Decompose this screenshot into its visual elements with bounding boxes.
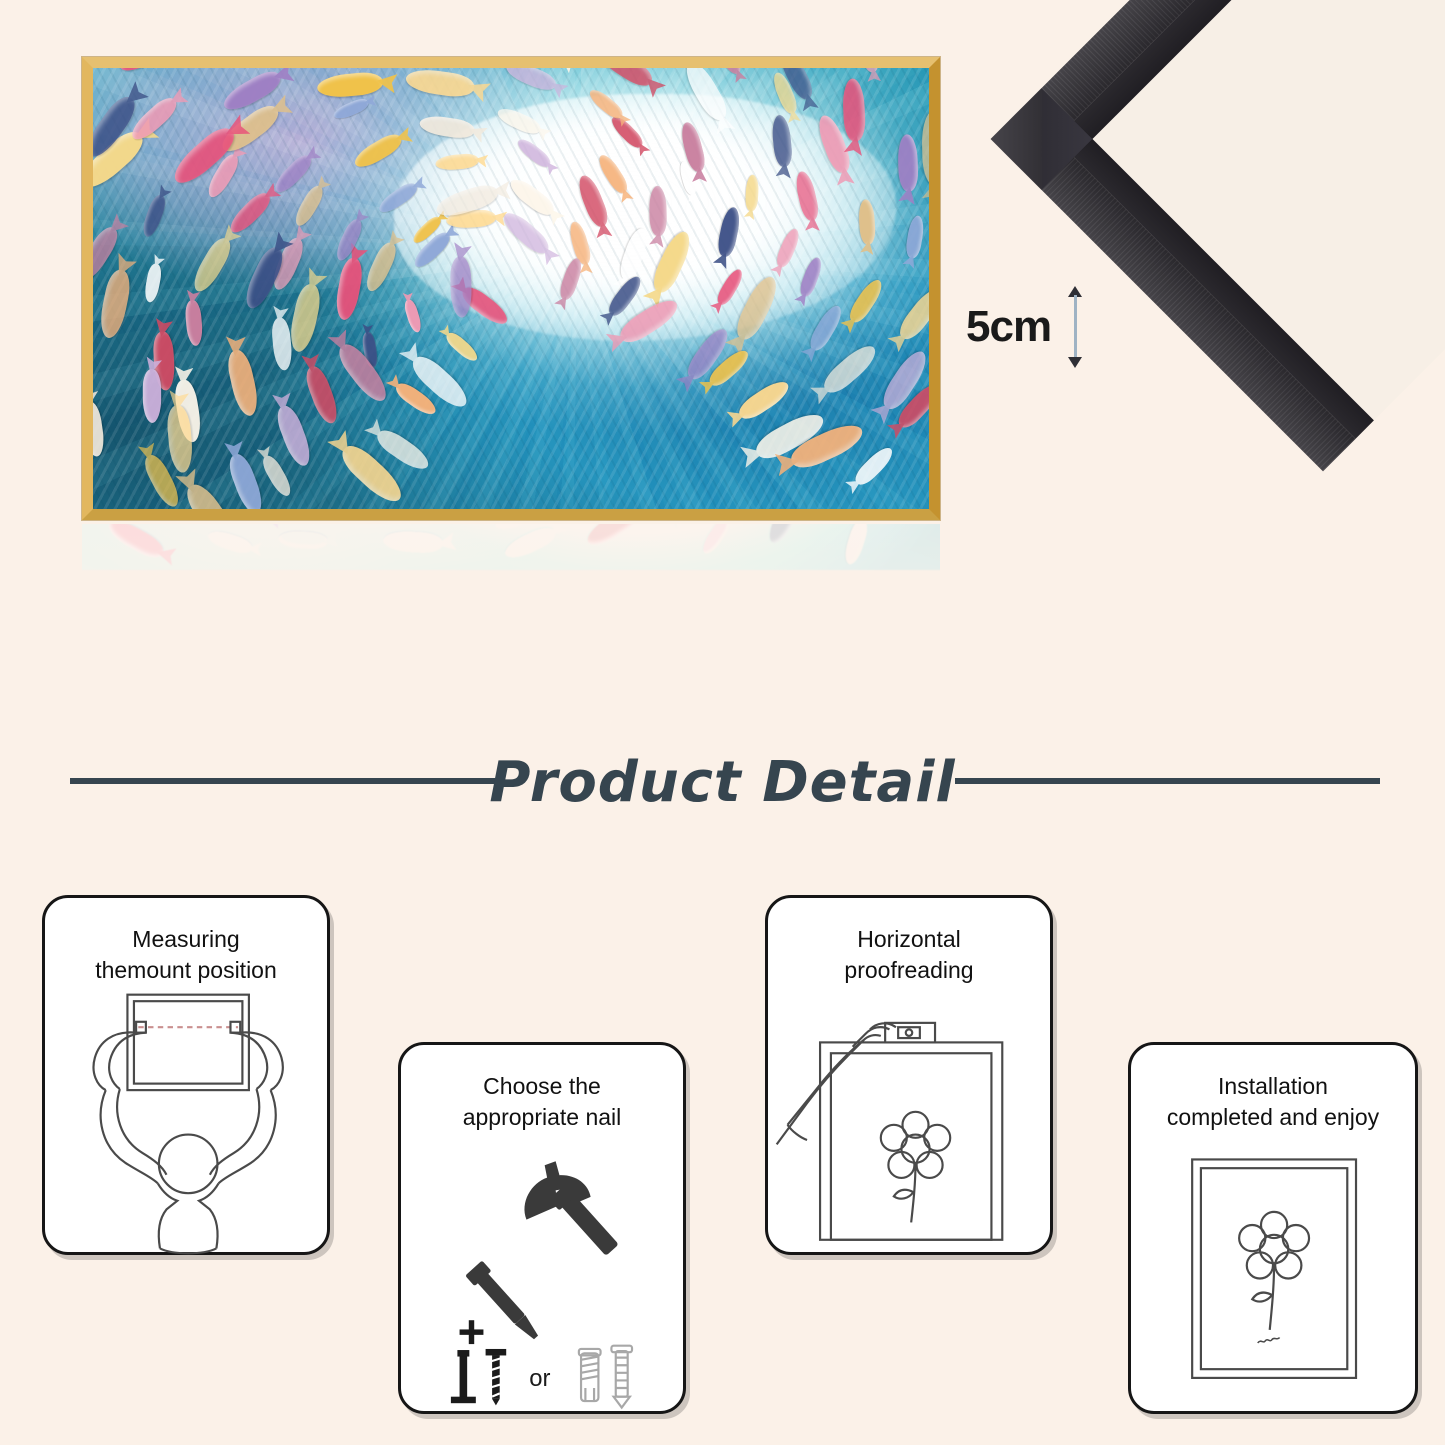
divider-line-left	[70, 778, 502, 784]
fish	[649, 186, 667, 236]
card-title: Choose the appropriate nail	[401, 1045, 683, 1133]
instruction-card-measuring: Measuring themount position	[42, 895, 330, 1255]
product-detail-page: 5cm Product Detail Measuring themount po…	[0, 0, 1445, 1445]
framed-fish-painting	[82, 57, 940, 520]
depth-measurement: 5cm	[966, 286, 1083, 368]
hung-framed-picture-icon	[1131, 1133, 1415, 1411]
instruction-card-complete: Installation completed and enjoy	[1128, 1042, 1418, 1414]
measurement-label: 5cm	[966, 305, 1051, 349]
hammer-and-nail-icon: or	[401, 1133, 683, 1411]
card-title: Measuring themount position	[45, 898, 327, 986]
painting-reflection	[82, 524, 940, 884]
instruction-card-level: Horizontal proofreading	[765, 895, 1053, 1255]
spirit-level-on-frame-icon	[768, 986, 1050, 1257]
reflection-fade	[82, 524, 940, 884]
double-arrow-icon	[1067, 286, 1083, 368]
fish	[143, 369, 162, 423]
person-holding-frame-icon	[45, 986, 327, 1257]
or-label: or	[529, 1365, 550, 1392]
page-title: Product Detail	[463, 750, 981, 815]
card-title: Installation completed and enjoy	[1131, 1045, 1415, 1133]
instruction-card-nail: Choose the appropriate nail	[398, 1042, 686, 1414]
section-divider: Product Detail	[0, 742, 1445, 822]
card-title: Horizontal proofreading	[768, 898, 1050, 986]
divider-line-right	[955, 778, 1380, 784]
painting-canvas	[93, 68, 929, 509]
fish	[450, 256, 472, 318]
black-frame-corner	[991, 0, 1445, 471]
